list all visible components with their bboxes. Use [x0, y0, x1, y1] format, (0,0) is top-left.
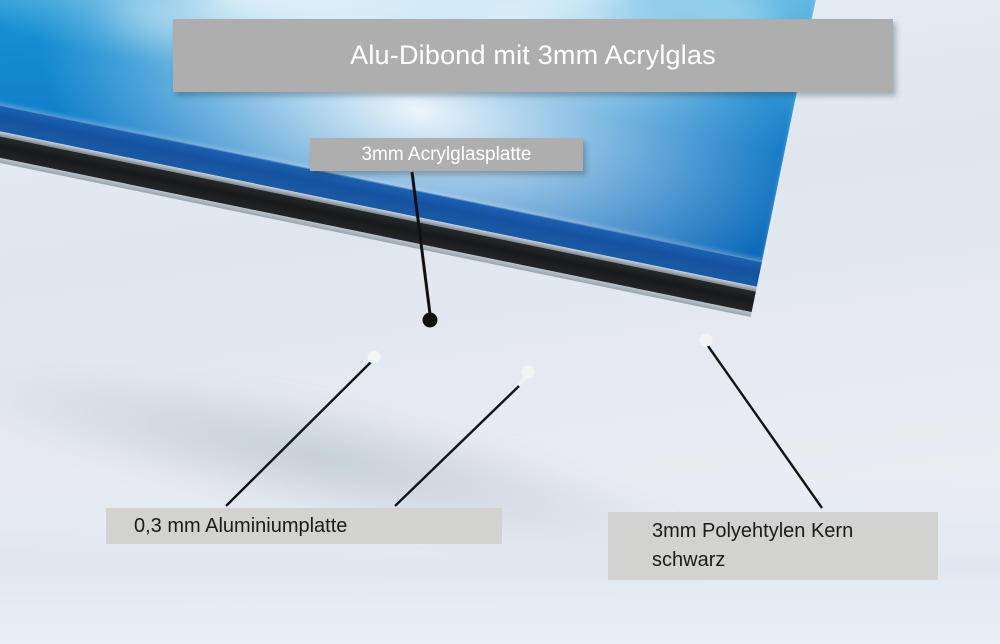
callout-label-aluminium: 0,3 mm Aluminiumplatte [106, 508, 502, 544]
diagram-title-banner: Alu-Dibond mit 3mm Acrylglas [173, 19, 893, 92]
callout-label-pe-core: 3mm Polyehtylen Kern schwarz [608, 512, 938, 580]
product-layer-diagram: Alu-Dibond mit 3mm Acrylglas 3mm Acrylgl… [0, 0, 1000, 644]
callout-label-pe-core-text: 3mm Polyehtylen Kern schwarz [652, 517, 853, 575]
page-title: Alu-Dibond mit 3mm Acrylglas [350, 40, 716, 71]
callout-label-acrylic: 3mm Acrylglasplatte [310, 138, 583, 171]
callout-label-acrylic-text: 3mm Acrylglasplatte [361, 144, 531, 166]
callout-label-aluminium-text: 0,3 mm Aluminiumplatte [134, 515, 347, 538]
